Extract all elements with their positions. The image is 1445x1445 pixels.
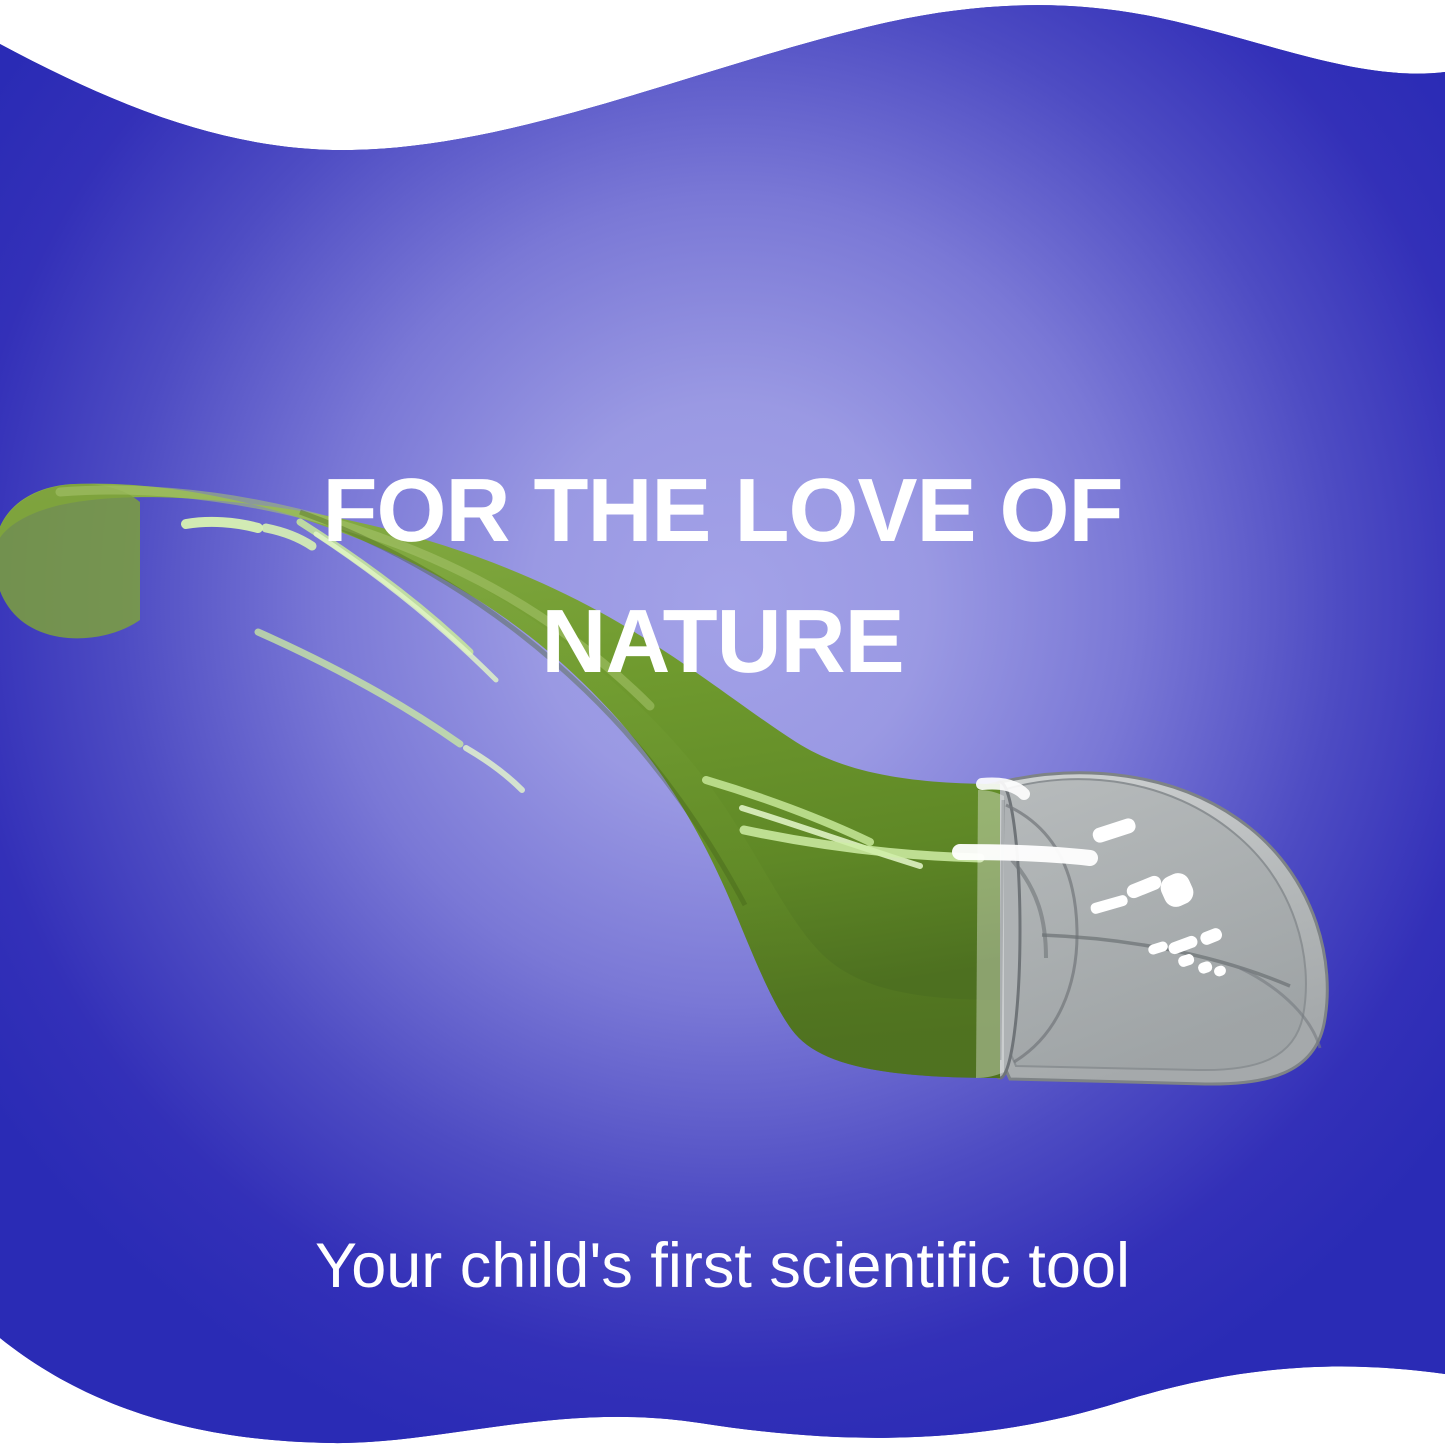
poster-canvas: FOR THE LOVE OF NATURE Your child's firs… — [0, 0, 1445, 1445]
wave-fill-group — [0, 0, 1445, 1445]
background-wave-shape — [0, 0, 1445, 1445]
headline-text: FOR THE LOVE OF NATURE — [0, 446, 1445, 707]
subtitle-text: Your child's first scientific tool — [0, 1232, 1445, 1301]
wave-glow-fill — [0, 0, 1445, 1445]
